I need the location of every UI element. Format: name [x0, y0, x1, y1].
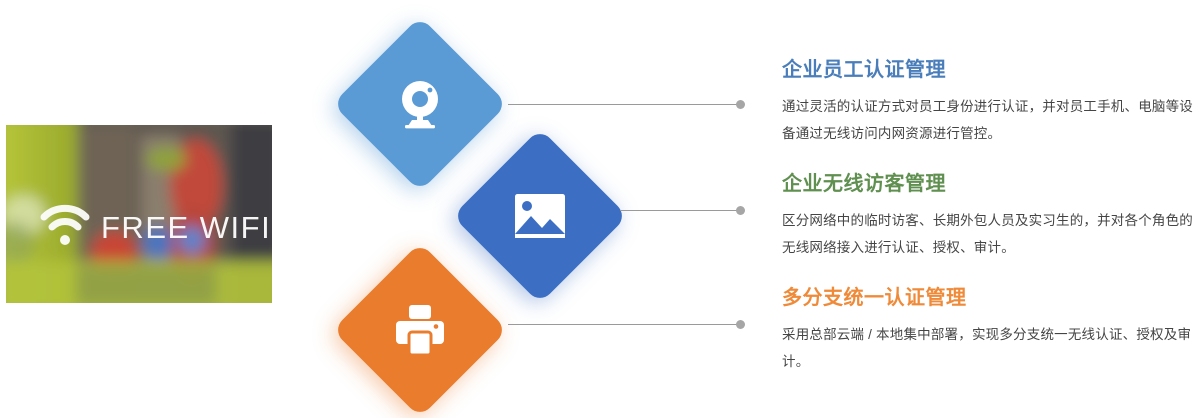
- feature-block-guest-wireless: 企业无线访客管理 区分网络中的临时访客、长期外包人员及实习生的，并对各个角色的无…: [782, 172, 1194, 261]
- image-picture-icon: [513, 192, 567, 240]
- feature-title: 多分支统一认证管理: [782, 286, 1194, 310]
- feature-body: 区分网络中的临时访客、长期外包人员及实习生的，并对各个角色的无线网络接入进行认证…: [782, 207, 1194, 261]
- feature-body: 采用总部云端 / 本地集中部署，实现多分支统一无线认证、授权及审计。: [782, 321, 1194, 375]
- photo-overlay-text: FREE WIFI: [101, 210, 271, 245]
- feature-title: 企业无线访客管理: [782, 172, 1194, 196]
- free-wifi-photo: FREE WIFI: [6, 125, 272, 303]
- connector-line-1: [508, 104, 740, 105]
- feature-block-multi-branch-auth: 多分支统一认证管理 采用总部云端 / 本地集中部署，实现多分支统一无线认证、授权…: [782, 286, 1194, 375]
- node-tile-multi-branch-auth[interactable]: [332, 242, 507, 417]
- feature-title: 企业员工认证管理: [782, 58, 1194, 82]
- photo-image: FREE WIFI: [6, 125, 272, 303]
- connector-dot-3: [736, 320, 745, 329]
- node-tile-guest-wireless[interactable]: [452, 128, 627, 303]
- webcam-icon: [392, 76, 448, 132]
- connector-dot-1: [736, 100, 745, 109]
- printer-icon: [392, 304, 448, 356]
- connector-line-3: [508, 324, 740, 325]
- feature-block-employee-auth: 企业员工认证管理 通过灵活的认证方式对员工身份进行认证，并对员工手机、电脑等设备…: [782, 58, 1194, 147]
- feature-body: 通过灵活的认证方式对员工身份进行认证，并对员工手机、电脑等设备通过无线访问内网资…: [782, 93, 1194, 147]
- connector-dot-2: [736, 206, 745, 215]
- node-tile-employee-auth[interactable]: [332, 16, 507, 191]
- connector-line-2: [620, 210, 740, 211]
